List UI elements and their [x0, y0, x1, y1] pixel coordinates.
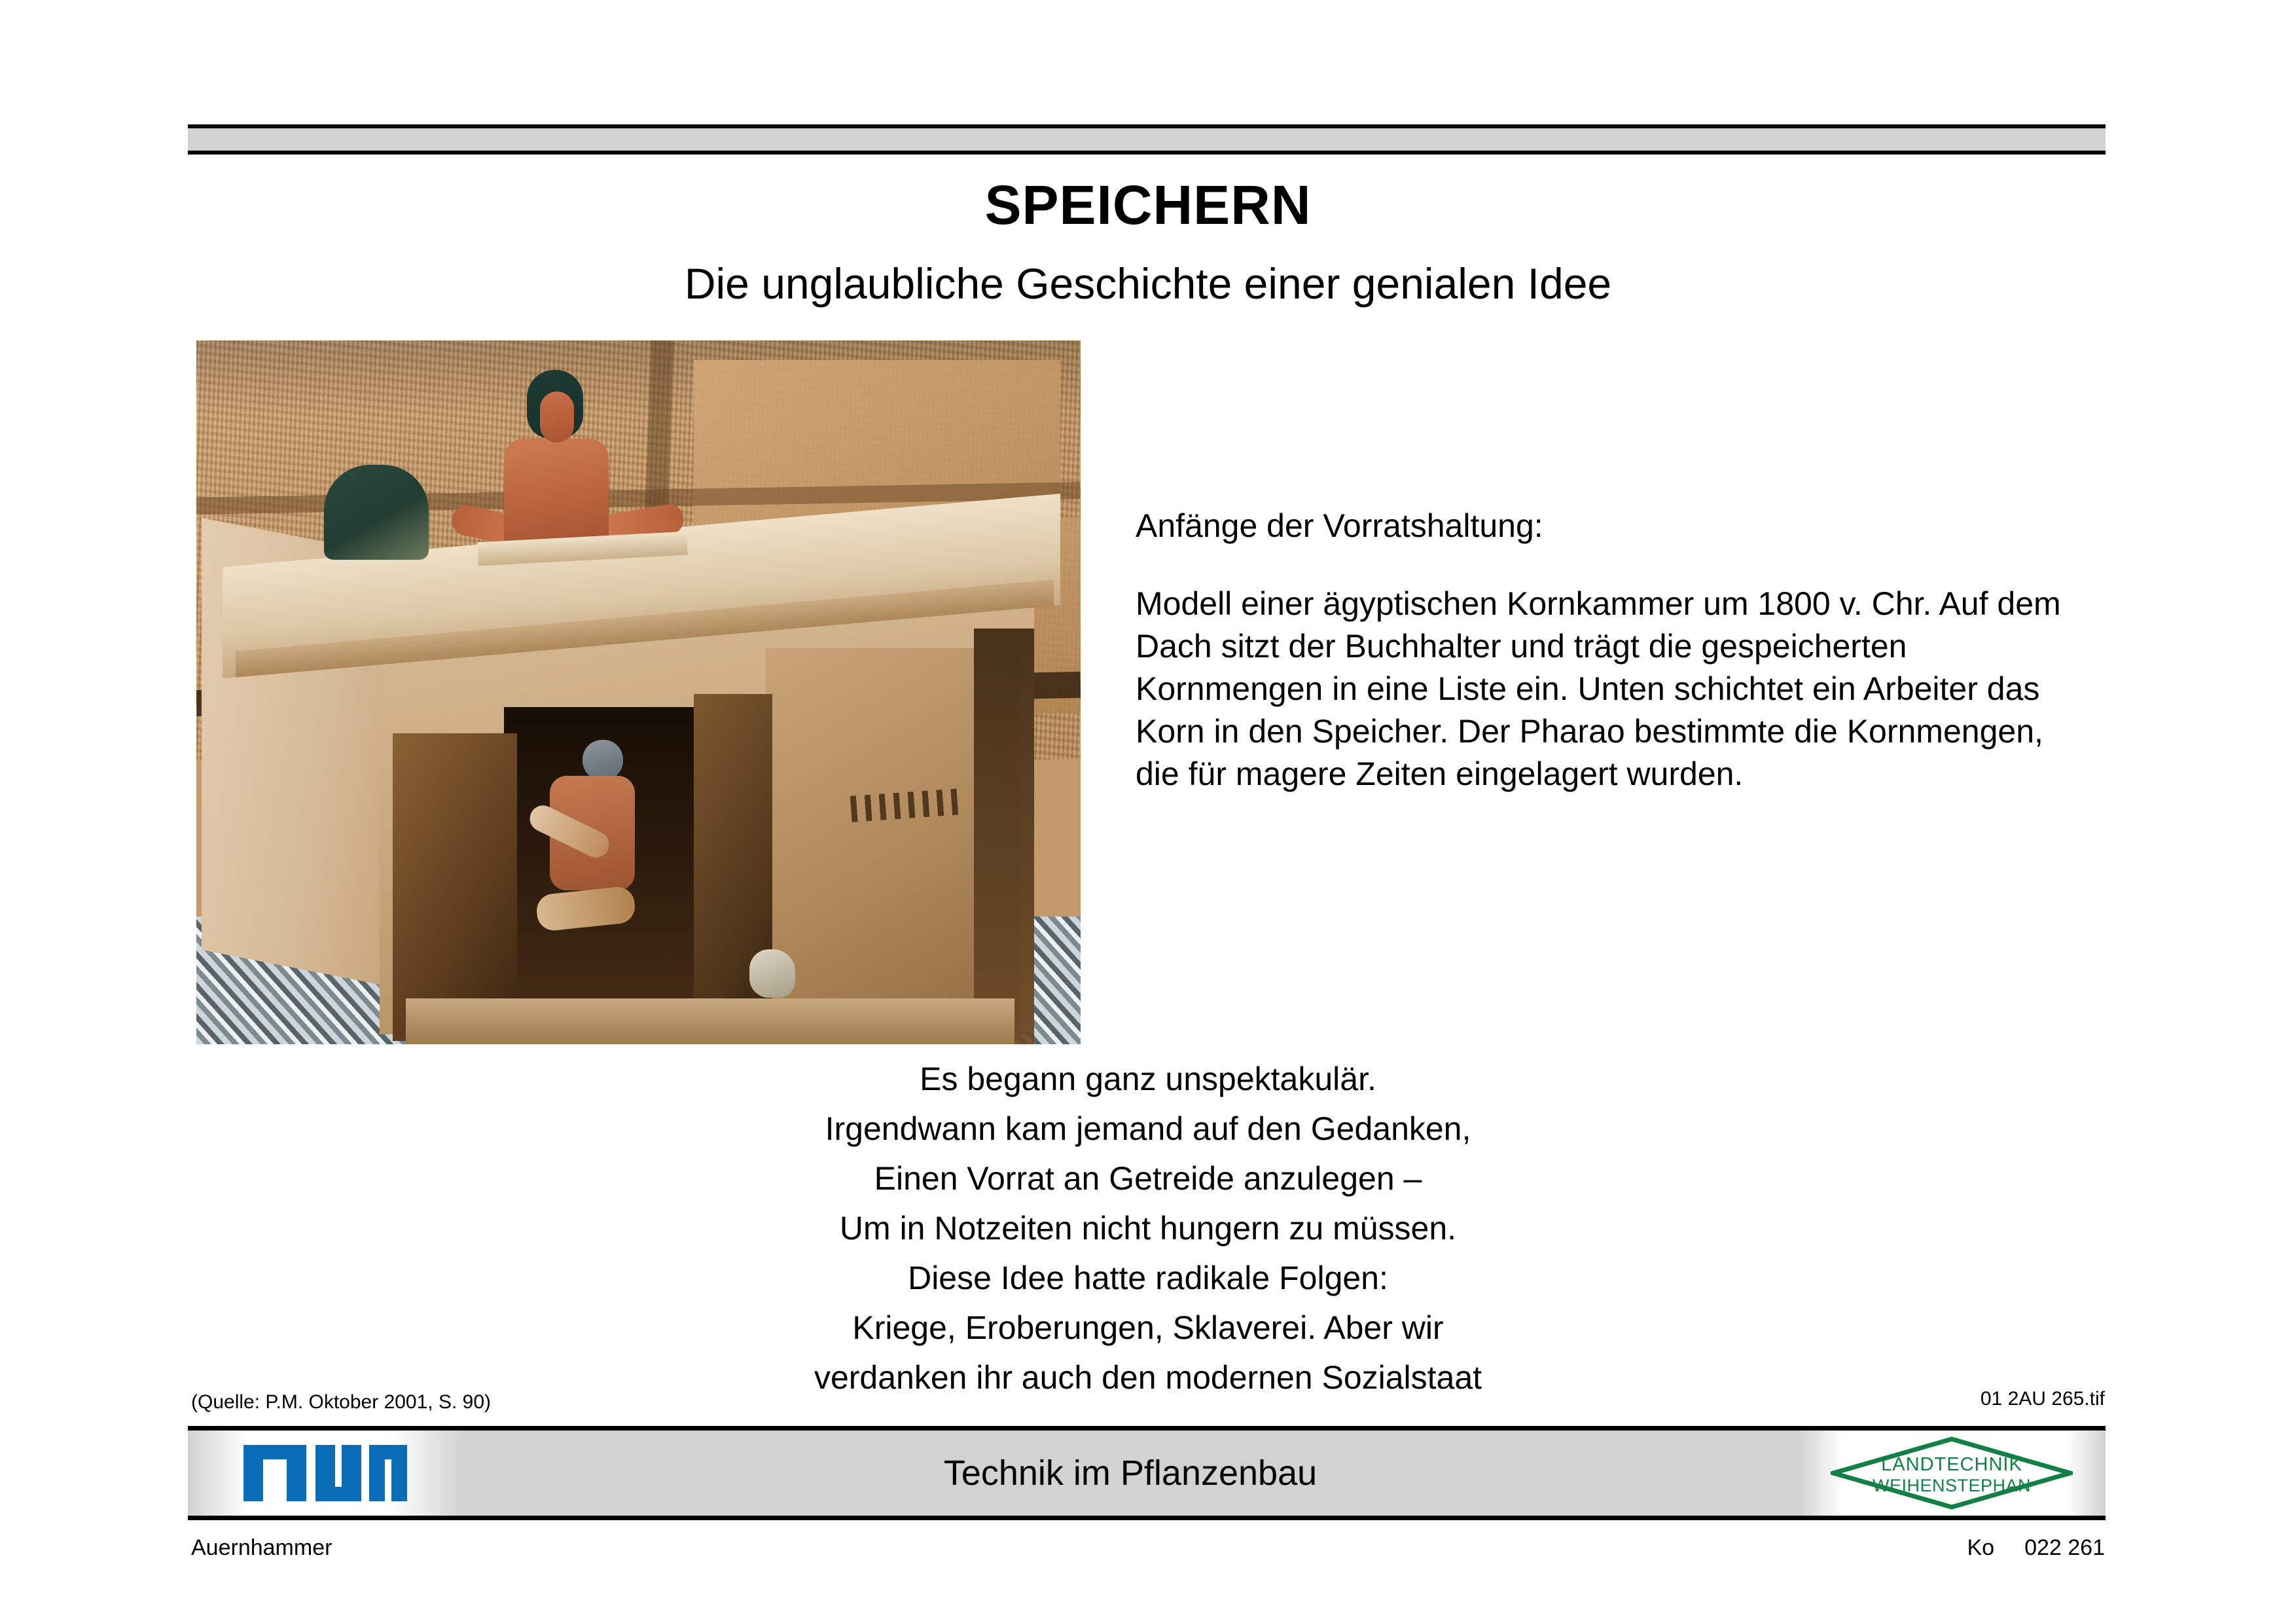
poem-line: Diese Idee hatte radikale Folgen: — [0, 1253, 2296, 1303]
slide-code: Ko022 261 — [1967, 1535, 2106, 1561]
footer-bar: Technik im Pflanzenbau LANDTECHNIK WEIHE… — [188, 1426, 2106, 1520]
poem-block: Es begann ganz unspektakulär. Irgendwann… — [0, 1054, 2296, 1402]
landtechnik-label-line2: WEIHENSTEPHAN — [1873, 1476, 2031, 1495]
granary-base-ledge — [406, 998, 1014, 1044]
loose-stone — [749, 949, 795, 998]
scribe-figure-torso — [504, 439, 609, 543]
poem-line: Irgendwann kam jemand auf den Gedanken, — [0, 1104, 2296, 1154]
page-title: SPEICHERN — [0, 173, 2296, 237]
top-header-bar — [188, 124, 2106, 155]
worker-figure-head — [583, 740, 623, 780]
page-subtitle: Die unglaubliche Geschichte einer genial… — [0, 259, 2296, 308]
landtechnik-weihenstephan-logo-icon: LANDTECHNIK WEIHENSTEPHAN — [1831, 1436, 2073, 1510]
poem-line: Einen Vorrat an Getreide anzulegen – — [0, 1154, 2296, 1203]
landtechnik-label-line1: LANDTECHNIK — [1881, 1454, 2022, 1475]
image-file-id: 01 2AU 265.tif — [1981, 1388, 2105, 1410]
description-paragraph: Modell einer ägyptischen Kornkammer um 1… — [1136, 583, 2065, 795]
tum-logo-icon — [243, 1445, 407, 1501]
granary-model-photo — [196, 340, 1081, 1044]
scribe-figure-face — [540, 392, 574, 443]
source-citation: (Quelle: P.M. Oktober 2001, S. 90) — [191, 1391, 491, 1413]
granary-door-panel — [393, 733, 517, 1041]
lead-text: Anfänge der Vorratshaltung: — [1136, 507, 2065, 544]
poem-line: Um in Notzeiten nicht hungern zu müssen. — [0, 1203, 2296, 1253]
author-name: Auernhammer — [191, 1535, 332, 1561]
poem-line: Es begann ganz unspektakulär. — [0, 1054, 2296, 1104]
tum-logo-panel — [188, 1431, 463, 1516]
landtechnik-logo-panel: LANDTECHNIK WEIHENSTEPHAN — [1798, 1431, 2106, 1516]
poem-line: Kriege, Eroberungen, Sklaverei. Aber wir — [0, 1303, 2296, 1353]
footer-center: Technik im Pflanzenbau — [463, 1431, 1798, 1516]
slide-code-prefix: Ko — [1967, 1535, 1995, 1560]
footer-title: Technik im Pflanzenbau — [944, 1453, 1317, 1493]
slide-code-number: 022 261 — [2024, 1535, 2105, 1560]
grain-jar — [324, 465, 429, 560]
granary-right-edge — [974, 629, 1034, 1044]
